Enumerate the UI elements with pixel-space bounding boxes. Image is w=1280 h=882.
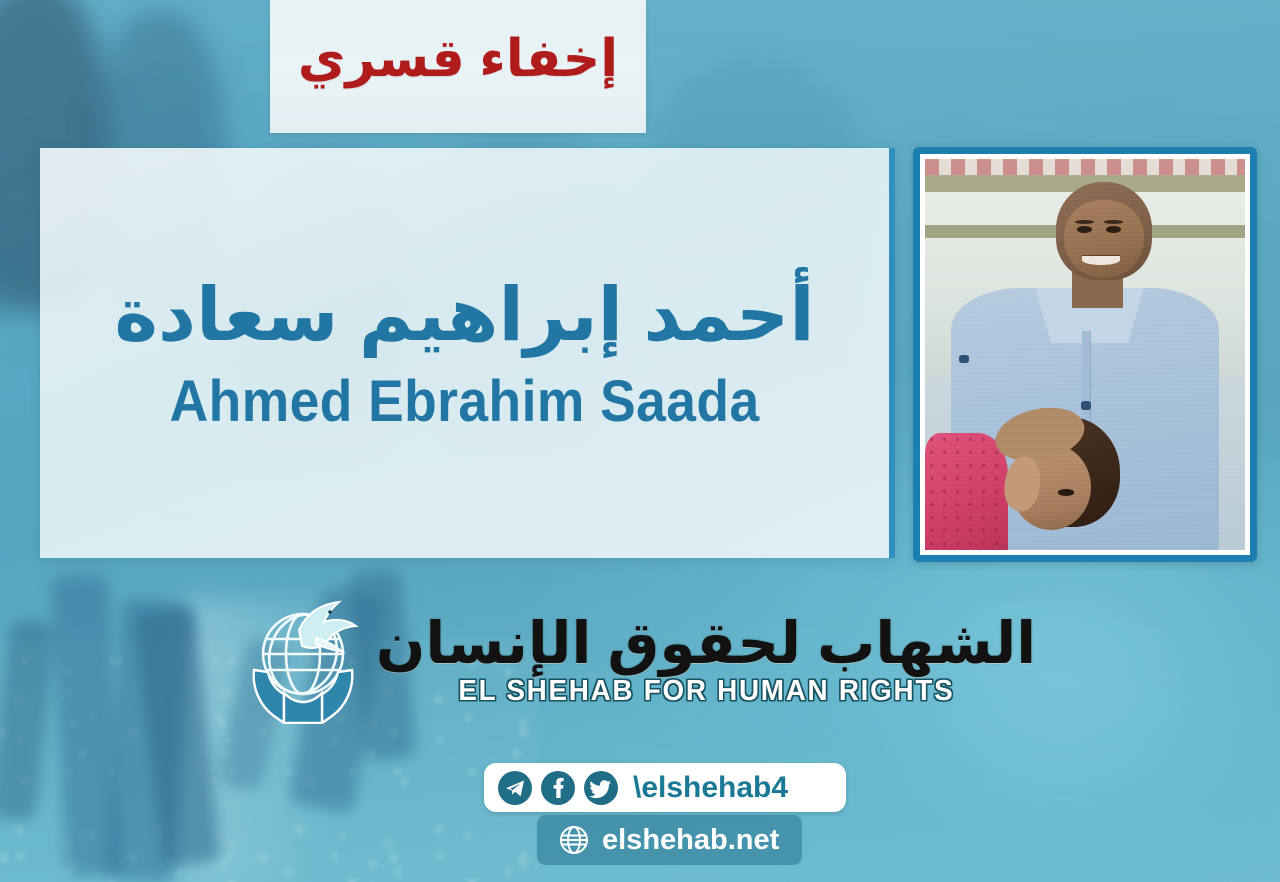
portrait-photo xyxy=(925,159,1245,550)
victim-name-arabic: أحمد إبراهيم سعادة xyxy=(114,275,814,355)
photo-grain xyxy=(925,159,1245,550)
poster-root: إخفاء قسري أحمد إبراهيم سعادة Ahmed Ebra… xyxy=(0,0,1280,882)
victim-name-english: Ahmed Ebrahim Saada xyxy=(170,373,760,431)
social-handle-text[interactable]: \elshehab4 xyxy=(633,773,788,803)
organization-logo-block: الشهاب لحقوق الإنسان EL SHEHAB FOR HUMAN… xyxy=(0,596,1280,724)
website-url-text[interactable]: elshehab.net xyxy=(602,826,779,855)
logo-name-arabic: الشهاب لحقوق الإنسان xyxy=(376,615,1036,673)
category-label: إخفاء قسري xyxy=(298,33,618,85)
twitter-icon[interactable] xyxy=(584,771,618,805)
logo-words: الشهاب لحقوق الإنسان EL SHEHAB FOR HUMAN… xyxy=(376,615,1036,706)
globe-icon xyxy=(559,825,589,855)
logo-row: الشهاب لحقوق الإنسان EL SHEHAB FOR HUMAN… xyxy=(244,596,1036,724)
social-handle-bar[interactable]: \elshehab4 xyxy=(484,763,846,812)
telegram-icon[interactable] xyxy=(498,771,532,805)
website-bar[interactable]: elshehab.net xyxy=(537,815,802,865)
category-banner: إخفاء قسري xyxy=(270,0,646,133)
portrait-frame xyxy=(913,147,1257,562)
globe-dove-hands-icon xyxy=(244,596,362,724)
victim-name-card: أحمد إبراهيم سعادة Ahmed Ebrahim Saada xyxy=(40,148,895,558)
logo-name-english: EL SHEHAB FOR HUMAN RIGHTS xyxy=(458,677,954,706)
facebook-icon[interactable] xyxy=(541,771,575,805)
